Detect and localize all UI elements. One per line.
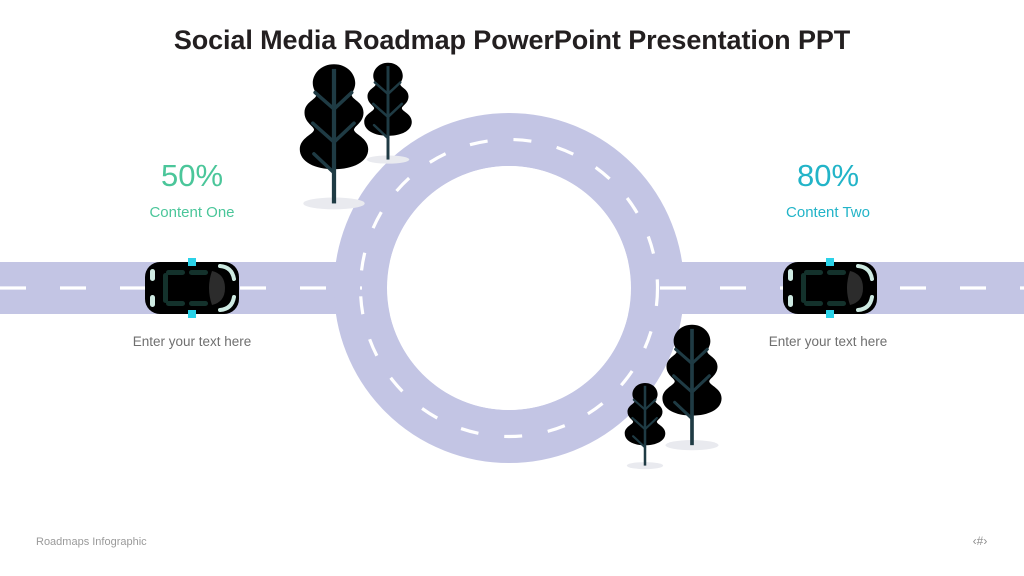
slide-canvas: Social Media Roadmap PowerPoint Presenta… bbox=[0, 0, 1024, 576]
milestone-right: 80% Content Two bbox=[738, 158, 918, 221]
roadmap-illustration bbox=[0, 0, 1024, 576]
selection-handle-top[interactable] bbox=[826, 258, 834, 266]
page-title: Social Media Roadmap PowerPoint Presenta… bbox=[0, 25, 1024, 56]
selection-handle-bottom[interactable] bbox=[188, 310, 196, 318]
car-left[interactable] bbox=[145, 262, 239, 314]
car-right[interactable] bbox=[783, 262, 877, 314]
page-number-placeholder: ‹#› bbox=[950, 534, 1010, 548]
milestone-left-label: Content One bbox=[102, 204, 282, 221]
milestone-left: 50% Content One bbox=[102, 158, 282, 221]
roundabout-center bbox=[387, 166, 631, 410]
selection-handle-bottom[interactable] bbox=[826, 310, 834, 318]
milestone-right-caption: Enter your text here bbox=[738, 334, 918, 349]
footer-note: Roadmaps Infographic bbox=[36, 536, 147, 548]
milestone-right-percent: 80% bbox=[738, 158, 918, 194]
tree-top-green bbox=[300, 64, 368, 209]
milestone-left-percent: 50% bbox=[102, 158, 282, 194]
milestone-left-caption: Enter your text here bbox=[102, 334, 282, 349]
milestone-right-label: Content Two bbox=[738, 204, 918, 221]
selection-handle-top[interactable] bbox=[188, 258, 196, 266]
